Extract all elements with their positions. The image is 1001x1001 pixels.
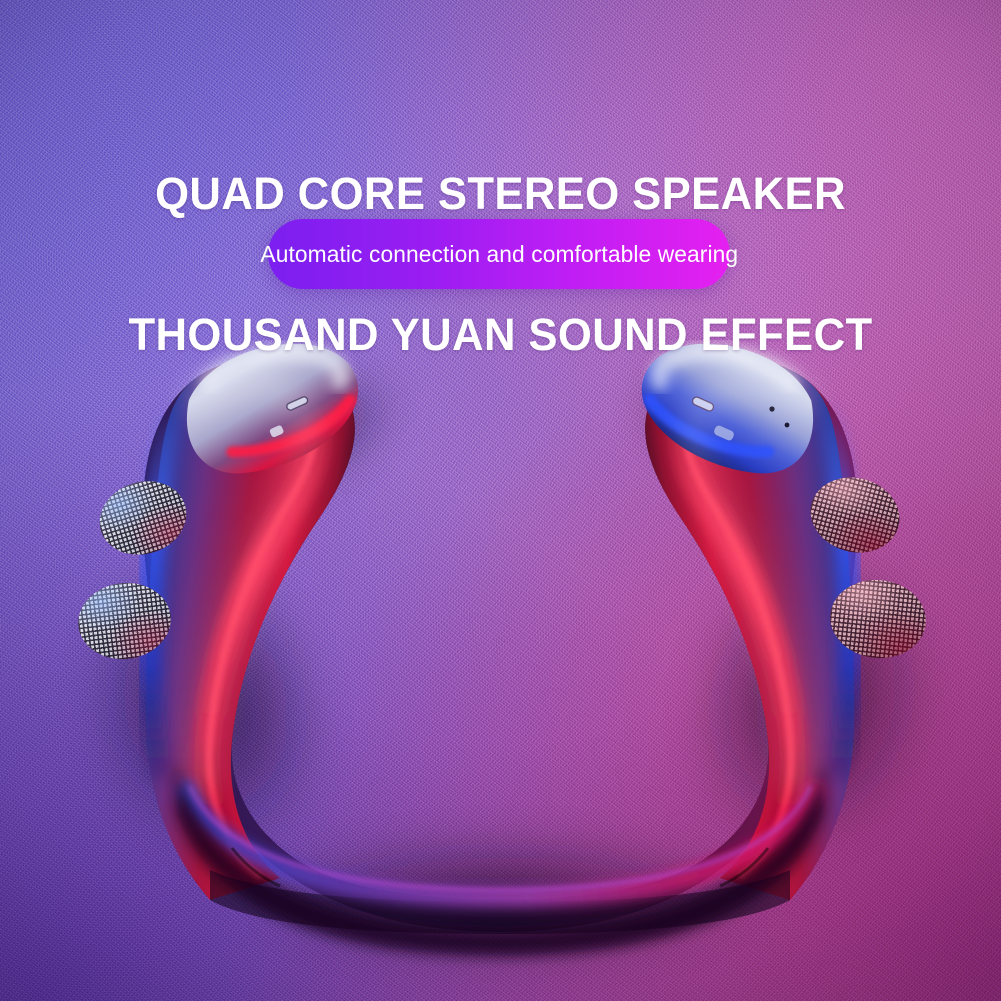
- promo-banner: QUAD CORE STEREO SPEAKER THOUSAND YUAN S…: [0, 0, 1001, 1001]
- subtitle-badge: Automatic connection and comfortable wea…: [268, 219, 730, 289]
- headline-line-1: QUAD CORE STEREO SPEAKER: [15, 170, 986, 217]
- headline-line-2: THOUSAND YUAN SOUND EFFECT: [15, 311, 986, 358]
- subtitle-badge-label: Automatic connection and comfortable wea…: [260, 241, 738, 268]
